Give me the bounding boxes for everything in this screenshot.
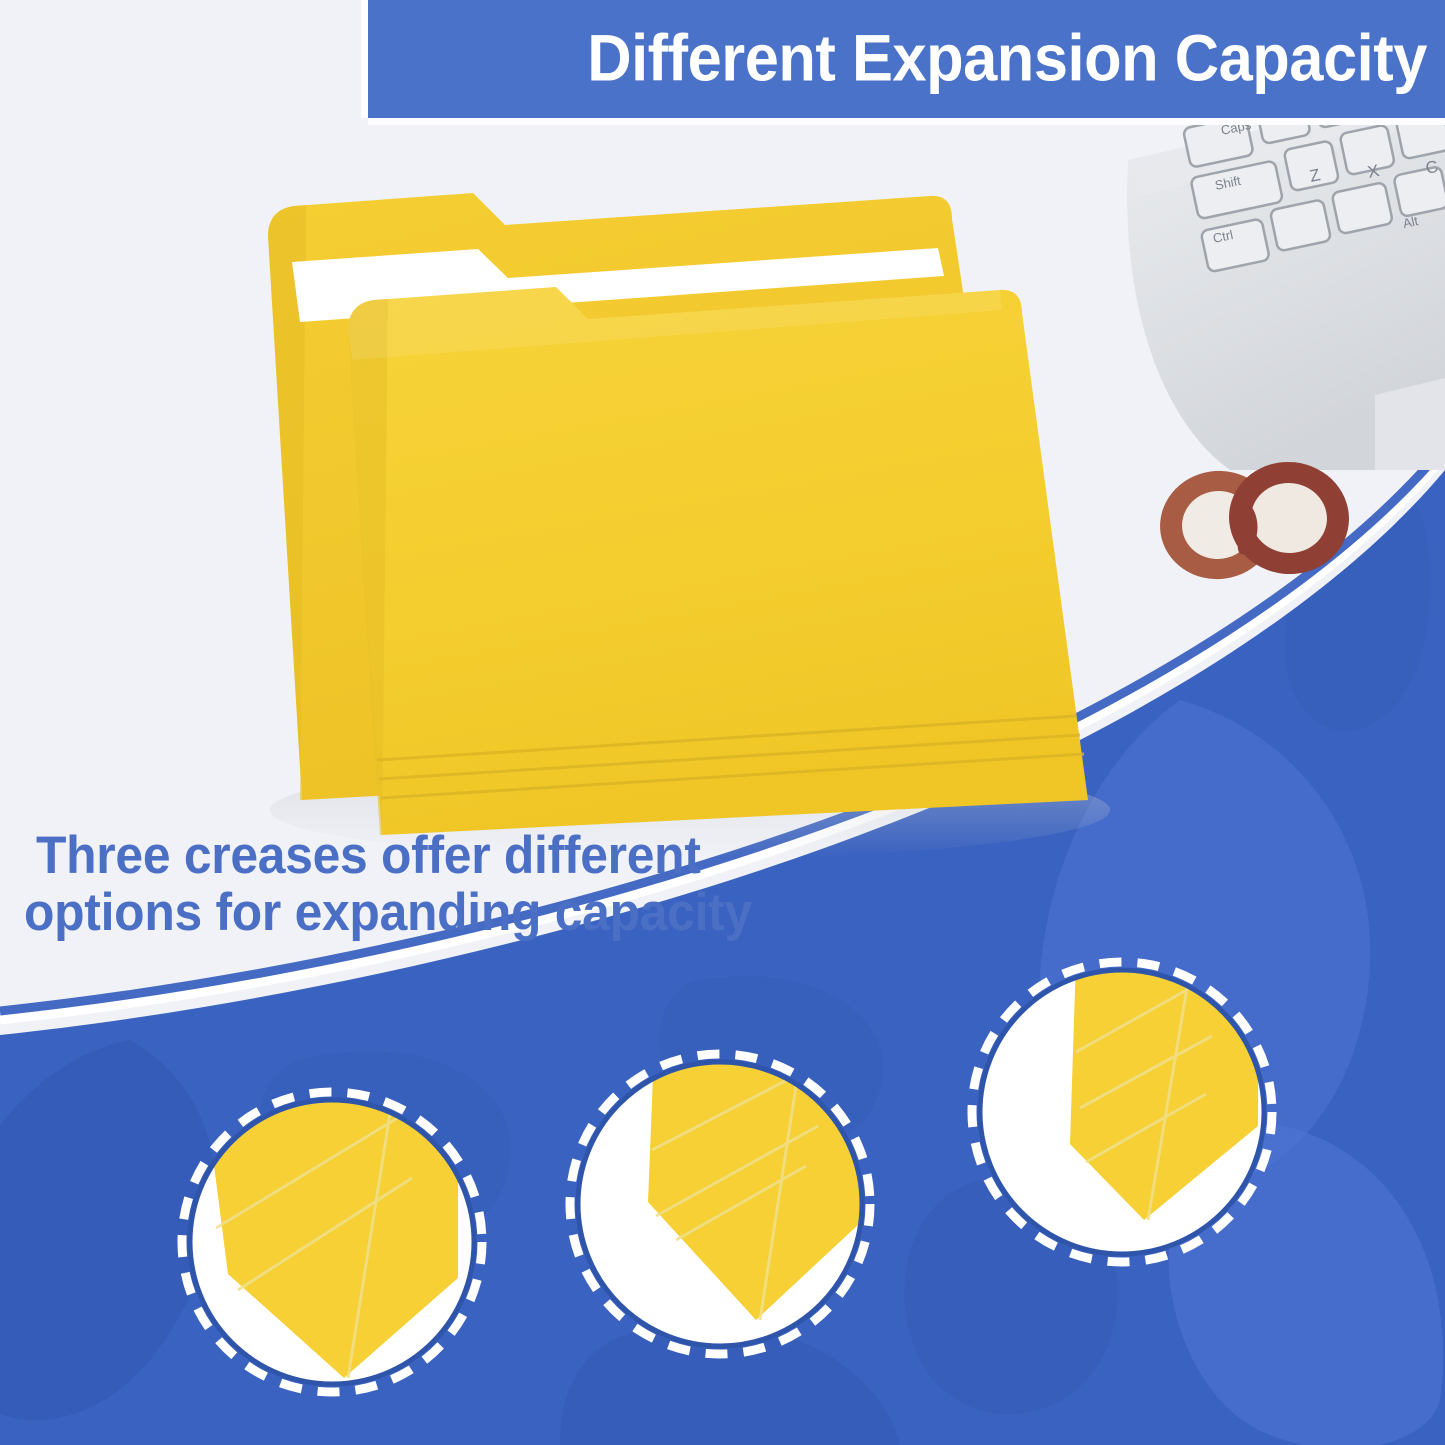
folder-front bbox=[348, 287, 1088, 835]
banner-title-text: Different Expansion Capacity bbox=[587, 19, 1427, 95]
crease-detail-callout-1[interactable] bbox=[168, 1078, 496, 1406]
crease-detail-callout-3[interactable] bbox=[958, 948, 1286, 1276]
caption-line-1: Three creases offer different bbox=[36, 828, 807, 885]
product-marketing-image: Caps Shift Ctrl Z X C Alt bbox=[0, 0, 1445, 1445]
banner-title: Different Expansion Capacity bbox=[368, 19, 1427, 95]
feature-caption: Three creases offer different options fo… bbox=[36, 828, 856, 941]
laptop: Caps Shift Ctrl Z X C Alt bbox=[1127, 59, 1445, 470]
header-banner: Different Expansion Capacity bbox=[368, 0, 1445, 118]
caption-line-2: options for expanding capacity bbox=[24, 885, 806, 942]
crease-detail-callout-2[interactable] bbox=[556, 1040, 884, 1368]
folder-front-body bbox=[348, 287, 1088, 835]
tape-rolls bbox=[1153, 456, 1354, 587]
